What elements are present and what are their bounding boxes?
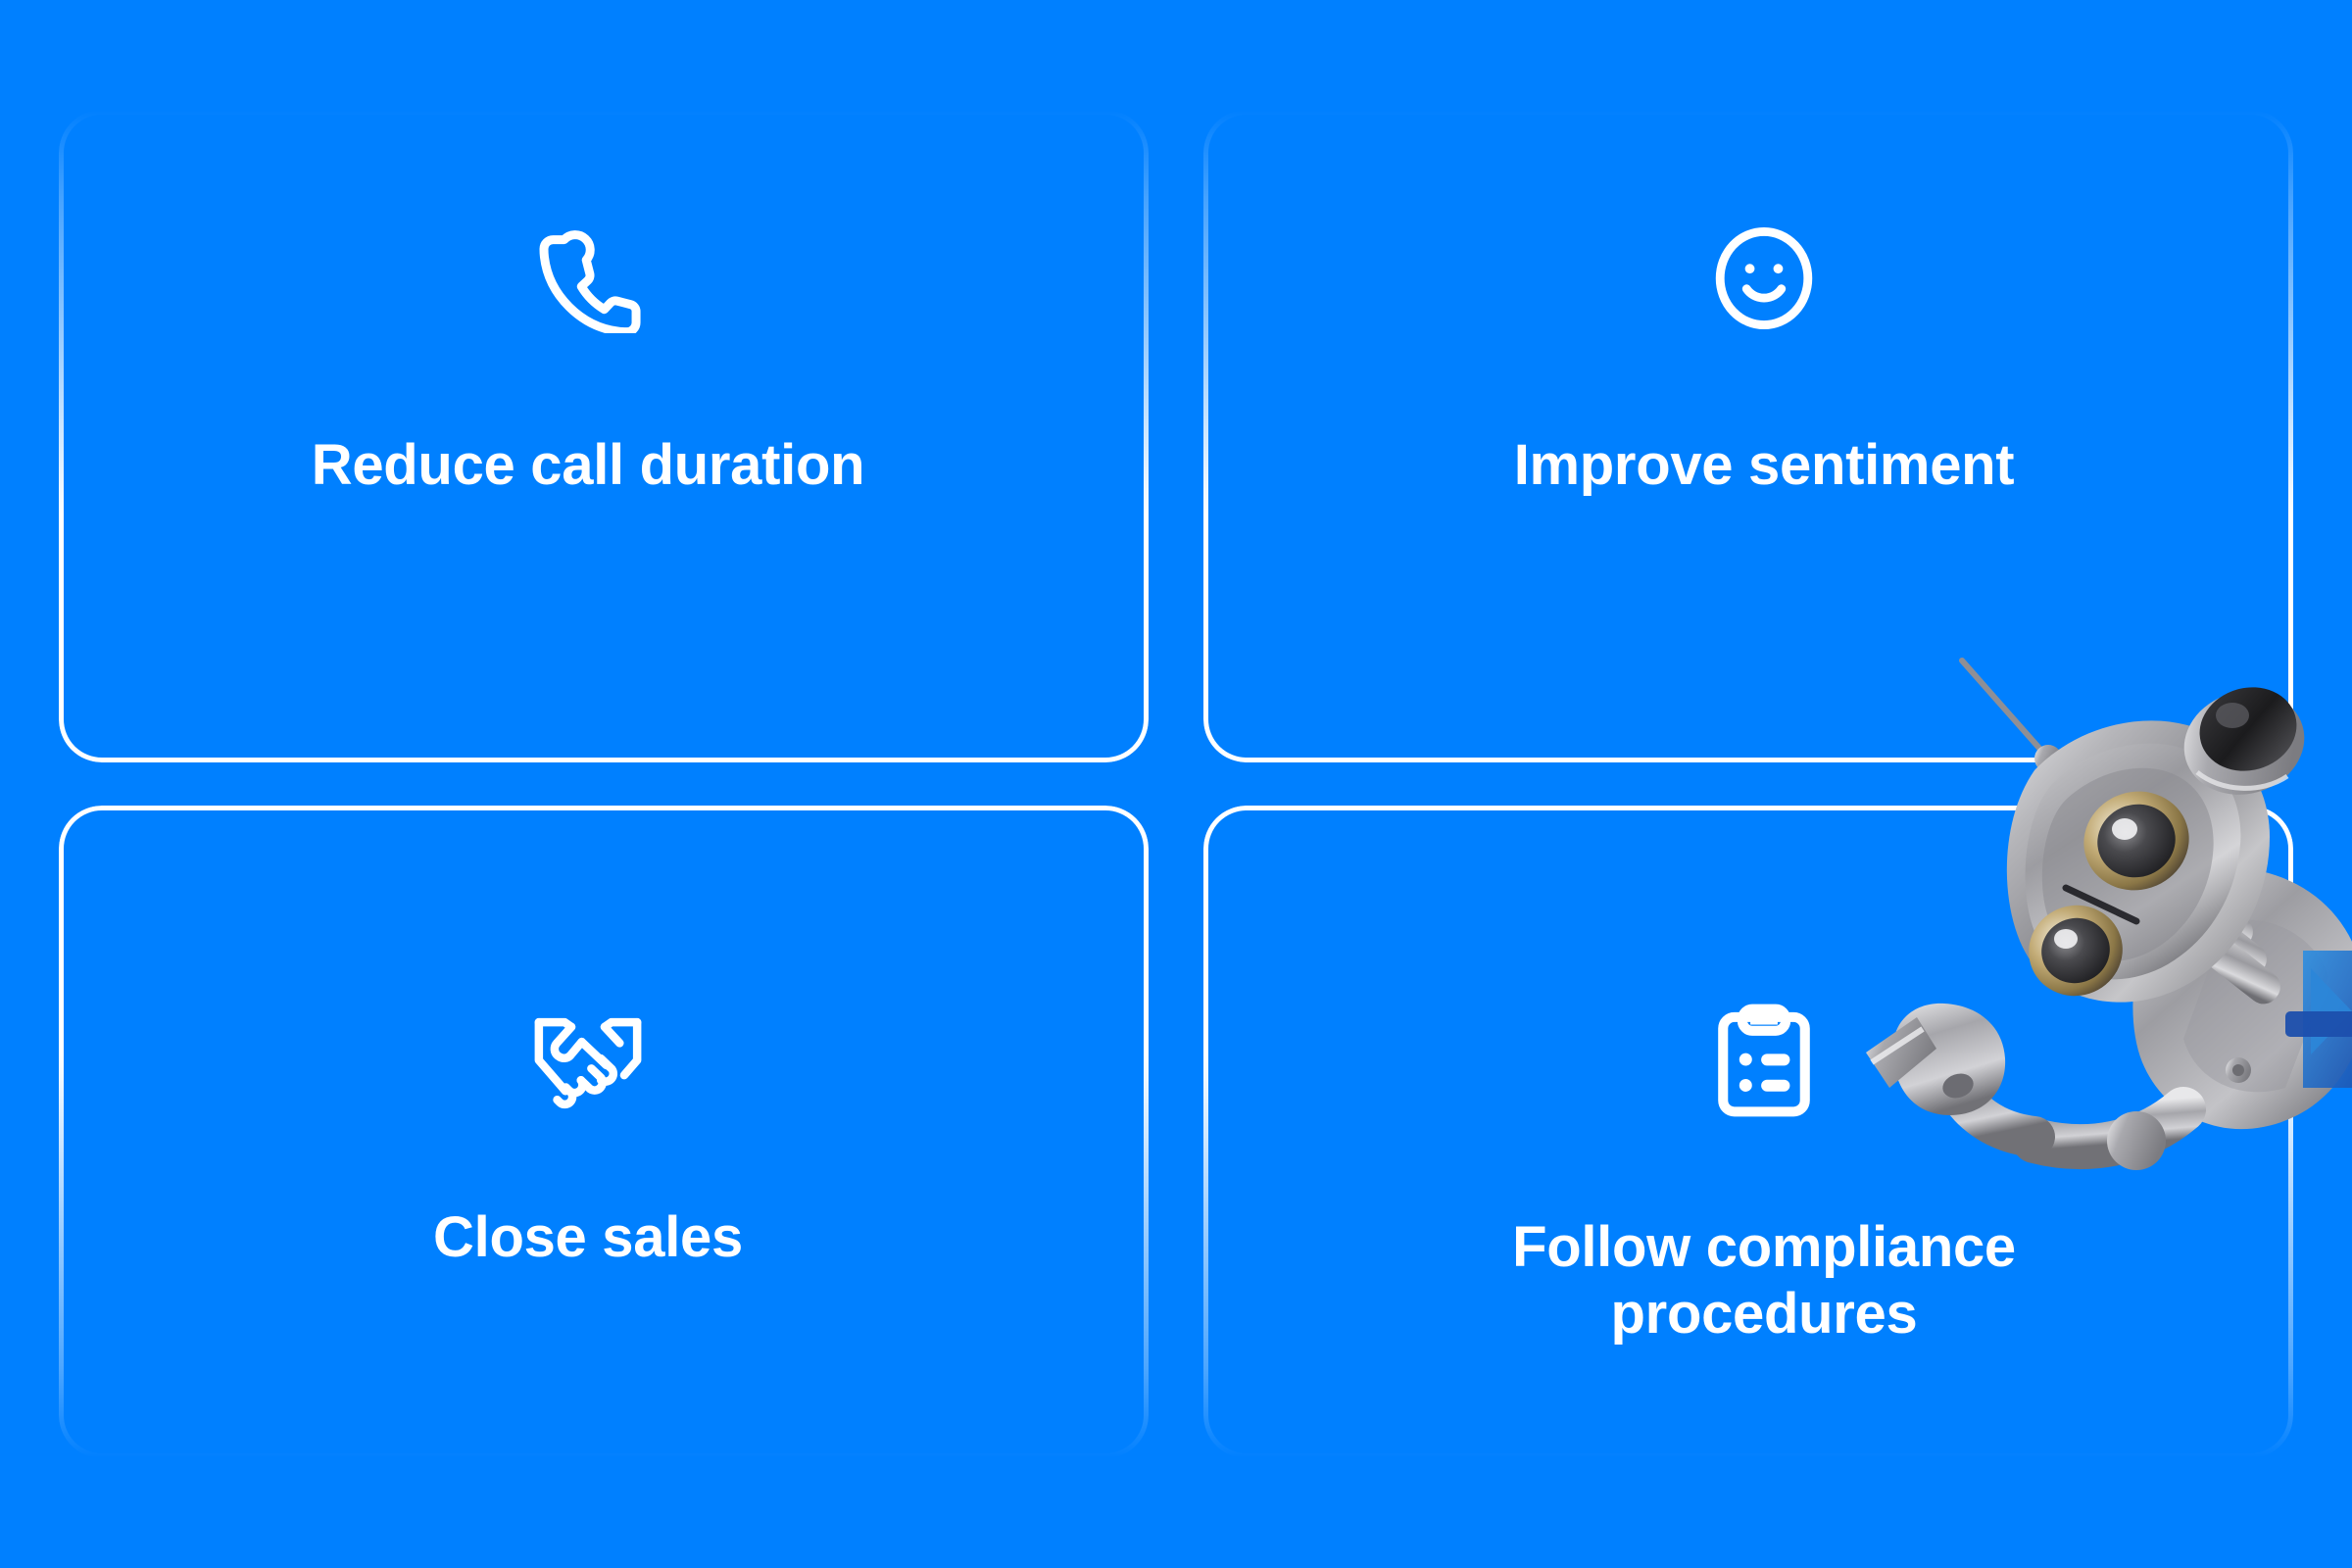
card-improve-sentiment[interactable]: Improve sentiment [1176,0,2352,784]
card-title: Reduce call duration [312,432,864,499]
card-content: Close sales [0,784,1176,1568]
card-title: Follow compliance procedures [1512,1214,2016,1348]
clipboard-checklist-icon [1717,1004,1811,1124]
card-reduce-call-duration[interactable]: Reduce call duration [0,0,1176,784]
card-content: Reduce call duration [0,0,1176,784]
handshake-icon [529,1009,647,1114]
card-title: Close sales [433,1204,743,1271]
card-title: Improve sentiment [1514,432,2015,499]
benefits-grid-slide: Reduce call duration Improve sentiment [0,0,2352,1568]
phone-icon [535,227,641,338]
card-content: Improve sentiment [1176,0,2352,784]
cards-grid: Reduce call duration Improve sentiment [0,0,2352,1568]
card-content: Follow compliance procedures [1176,784,2352,1568]
card-close-sales[interactable]: Close sales [0,784,1176,1568]
smiley-face-icon [1709,223,1819,338]
card-follow-compliance-procedures[interactable]: Follow compliance procedures [1176,784,2352,1568]
